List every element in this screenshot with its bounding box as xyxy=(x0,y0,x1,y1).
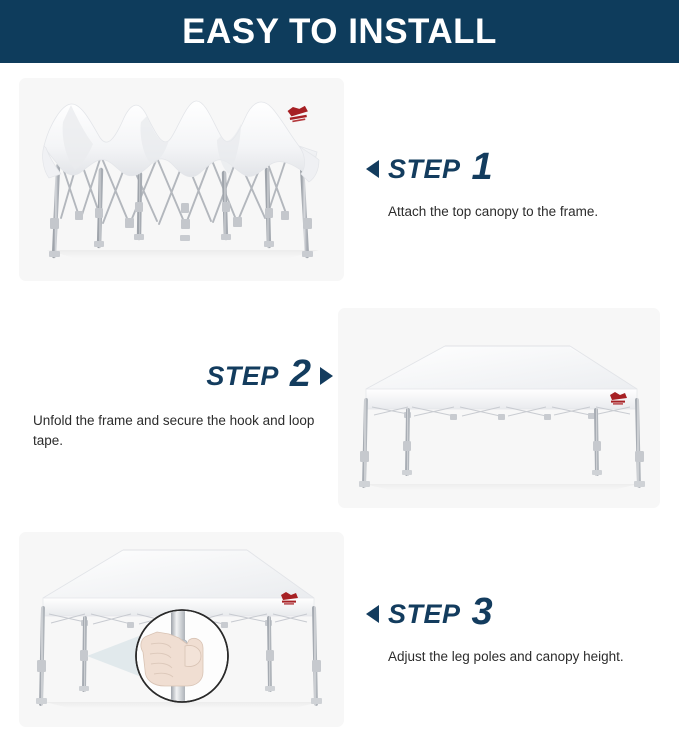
triangle-right-icon xyxy=(320,367,333,385)
folded-canopy-illustration xyxy=(19,78,344,281)
step-1-number: 1 xyxy=(472,148,493,186)
assembled-canopy-illustration xyxy=(338,308,660,508)
step-2-label: STEP xyxy=(206,363,279,390)
step-1-text-block: STEP 1 Attach the top canopy to the fram… xyxy=(366,150,662,222)
triangle-left-icon xyxy=(366,605,379,623)
step-2-number: 2 xyxy=(290,355,311,393)
page-title: EASY TO INSTALL xyxy=(182,14,497,49)
easy-to-install-infographic: EASY TO INSTALL xyxy=(0,0,679,734)
canopy-height-callout-illustration xyxy=(19,532,344,727)
step-2-heading: STEP 2 xyxy=(33,357,333,395)
step-3-label: STEP xyxy=(388,601,461,628)
step-1-heading: STEP 1 xyxy=(366,150,662,188)
step-3-text-block: STEP 3 Adjust the leg poles and canopy h… xyxy=(366,595,662,667)
step-1-description: Attach the top canopy to the frame. xyxy=(388,202,662,222)
magnified-leg-adjuster xyxy=(136,610,228,702)
step-3-description: Adjust the leg poles and canopy height. xyxy=(388,647,662,667)
step-3-heading: STEP 3 xyxy=(366,595,662,633)
step-2-image-panel xyxy=(338,308,660,508)
header-banner: EASY TO INSTALL xyxy=(0,0,679,63)
triangle-left-icon xyxy=(366,160,379,178)
callout-cone xyxy=(87,636,139,676)
brand-logo xyxy=(287,105,309,123)
step-1-image-panel xyxy=(19,78,344,281)
step-1-label: STEP xyxy=(388,156,461,183)
step-3-number: 3 xyxy=(472,593,493,631)
step-3-image-panel xyxy=(19,532,344,727)
step-2-text-block: STEP 2 Unfold the frame and secure the h… xyxy=(33,357,333,450)
step-2-description: Unfold the frame and secure the hook and… xyxy=(33,411,333,450)
